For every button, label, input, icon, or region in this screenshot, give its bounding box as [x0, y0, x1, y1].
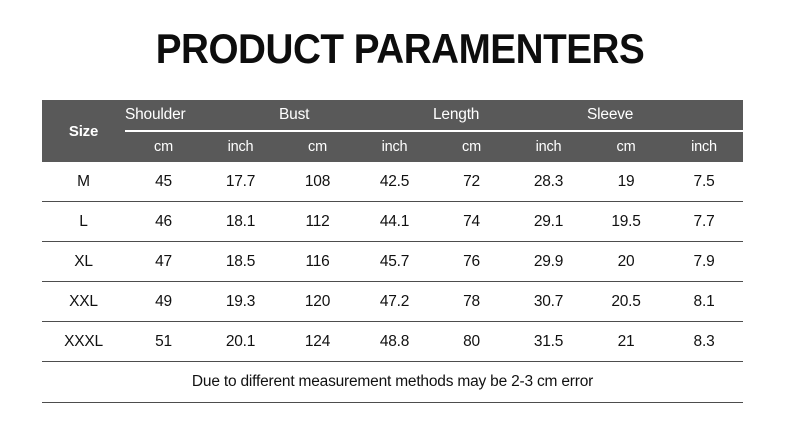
cell-size: XXL — [42, 282, 125, 322]
cell-shoulder-cm: 49 — [125, 282, 202, 322]
cell-sleeve-inch: 8.1 — [665, 282, 743, 322]
table-note-row: Due to different measurement methods may… — [42, 362, 743, 403]
cell-bust-inch: 45.7 — [356, 242, 433, 282]
cell-length-inch: 29.1 — [510, 202, 587, 242]
size-chart-table: Size Shoulder Bust Length Sleeve cm inch… — [42, 100, 743, 403]
header-unit-bust-cm: cm — [279, 131, 356, 162]
cell-shoulder-cm: 46 — [125, 202, 202, 242]
cell-bust-cm: 120 — [279, 282, 356, 322]
cell-length-inch: 31.5 — [510, 322, 587, 362]
cell-bust-inch: 48.8 — [356, 322, 433, 362]
cell-length-cm: 76 — [433, 242, 510, 282]
cell-shoulder-cm: 47 — [125, 242, 202, 282]
cell-sleeve-inch: 8.3 — [665, 322, 743, 362]
cell-shoulder-cm: 45 — [125, 162, 202, 202]
header-group-shoulder: Shoulder — [125, 100, 279, 131]
table-row: XL 47 18.5 116 45.7 76 29.9 20 7.9 — [42, 242, 743, 282]
cell-shoulder-cm: 51 — [125, 322, 202, 362]
cell-sleeve-cm: 20 — [587, 242, 665, 282]
cell-sleeve-cm: 20.5 — [587, 282, 665, 322]
cell-shoulder-inch: 18.1 — [202, 202, 279, 242]
header-unit-row: cm inch cm inch cm inch cm inch — [42, 131, 743, 162]
header-group-bust: Bust — [279, 100, 433, 131]
cell-sleeve-inch: 7.5 — [665, 162, 743, 202]
cell-size: XXXL — [42, 322, 125, 362]
header-group-sleeve: Sleeve — [587, 100, 743, 131]
header-unit-bust-inch: inch — [356, 131, 433, 162]
cell-length-inch: 28.3 — [510, 162, 587, 202]
cell-length-cm: 72 — [433, 162, 510, 202]
cell-bust-inch: 42.5 — [356, 162, 433, 202]
page-title: PRODUCT PARAMENTERS — [32, 28, 768, 70]
cell-size: M — [42, 162, 125, 202]
cell-shoulder-inch: 17.7 — [202, 162, 279, 202]
header-unit-sleeve-cm: cm — [587, 131, 665, 162]
table-row: XXXL 51 20.1 124 48.8 80 31.5 21 8.3 — [42, 322, 743, 362]
table-row: M 45 17.7 108 42.5 72 28.3 19 7.5 — [42, 162, 743, 202]
header-group-row: Size Shoulder Bust Length Sleeve — [42, 100, 743, 131]
cell-length-cm: 80 — [433, 322, 510, 362]
table-body: M 45 17.7 108 42.5 72 28.3 19 7.5 L 46 1… — [42, 162, 743, 403]
cell-bust-inch: 47.2 — [356, 282, 433, 322]
cell-length-inch: 29.9 — [510, 242, 587, 282]
header-unit-sleeve-inch: inch — [665, 131, 743, 162]
cell-sleeve-cm: 21 — [587, 322, 665, 362]
size-chart-page: PRODUCT PARAMENTERS Size Shoulder Bust L… — [0, 0, 800, 445]
cell-bust-cm: 116 — [279, 242, 356, 282]
cell-shoulder-inch: 20.1 — [202, 322, 279, 362]
cell-size: L — [42, 202, 125, 242]
cell-shoulder-inch: 19.3 — [202, 282, 279, 322]
cell-sleeve-inch: 7.9 — [665, 242, 743, 282]
cell-length-inch: 30.7 — [510, 282, 587, 322]
cell-bust-cm: 108 — [279, 162, 356, 202]
header-size: Size — [42, 100, 125, 162]
cell-sleeve-inch: 7.7 — [665, 202, 743, 242]
header-group-length: Length — [433, 100, 587, 131]
table-header: Size Shoulder Bust Length Sleeve cm inch… — [42, 100, 743, 162]
cell-length-cm: 78 — [433, 282, 510, 322]
cell-bust-cm: 124 — [279, 322, 356, 362]
cell-sleeve-cm: 19 — [587, 162, 665, 202]
cell-bust-cm: 112 — [279, 202, 356, 242]
cell-sleeve-cm: 19.5 — [587, 202, 665, 242]
table-row: L 46 18.1 112 44.1 74 29.1 19.5 7.7 — [42, 202, 743, 242]
header-unit-shoulder-cm: cm — [125, 131, 202, 162]
cell-size: XL — [42, 242, 125, 282]
header-unit-shoulder-inch: inch — [202, 131, 279, 162]
cell-shoulder-inch: 18.5 — [202, 242, 279, 282]
cell-bust-inch: 44.1 — [356, 202, 433, 242]
cell-length-cm: 74 — [433, 202, 510, 242]
header-unit-length-cm: cm — [433, 131, 510, 162]
header-unit-length-inch: inch — [510, 131, 587, 162]
table-row: XXL 49 19.3 120 47.2 78 30.7 20.5 8.1 — [42, 282, 743, 322]
measurement-note: Due to different measurement methods may… — [42, 362, 743, 403]
